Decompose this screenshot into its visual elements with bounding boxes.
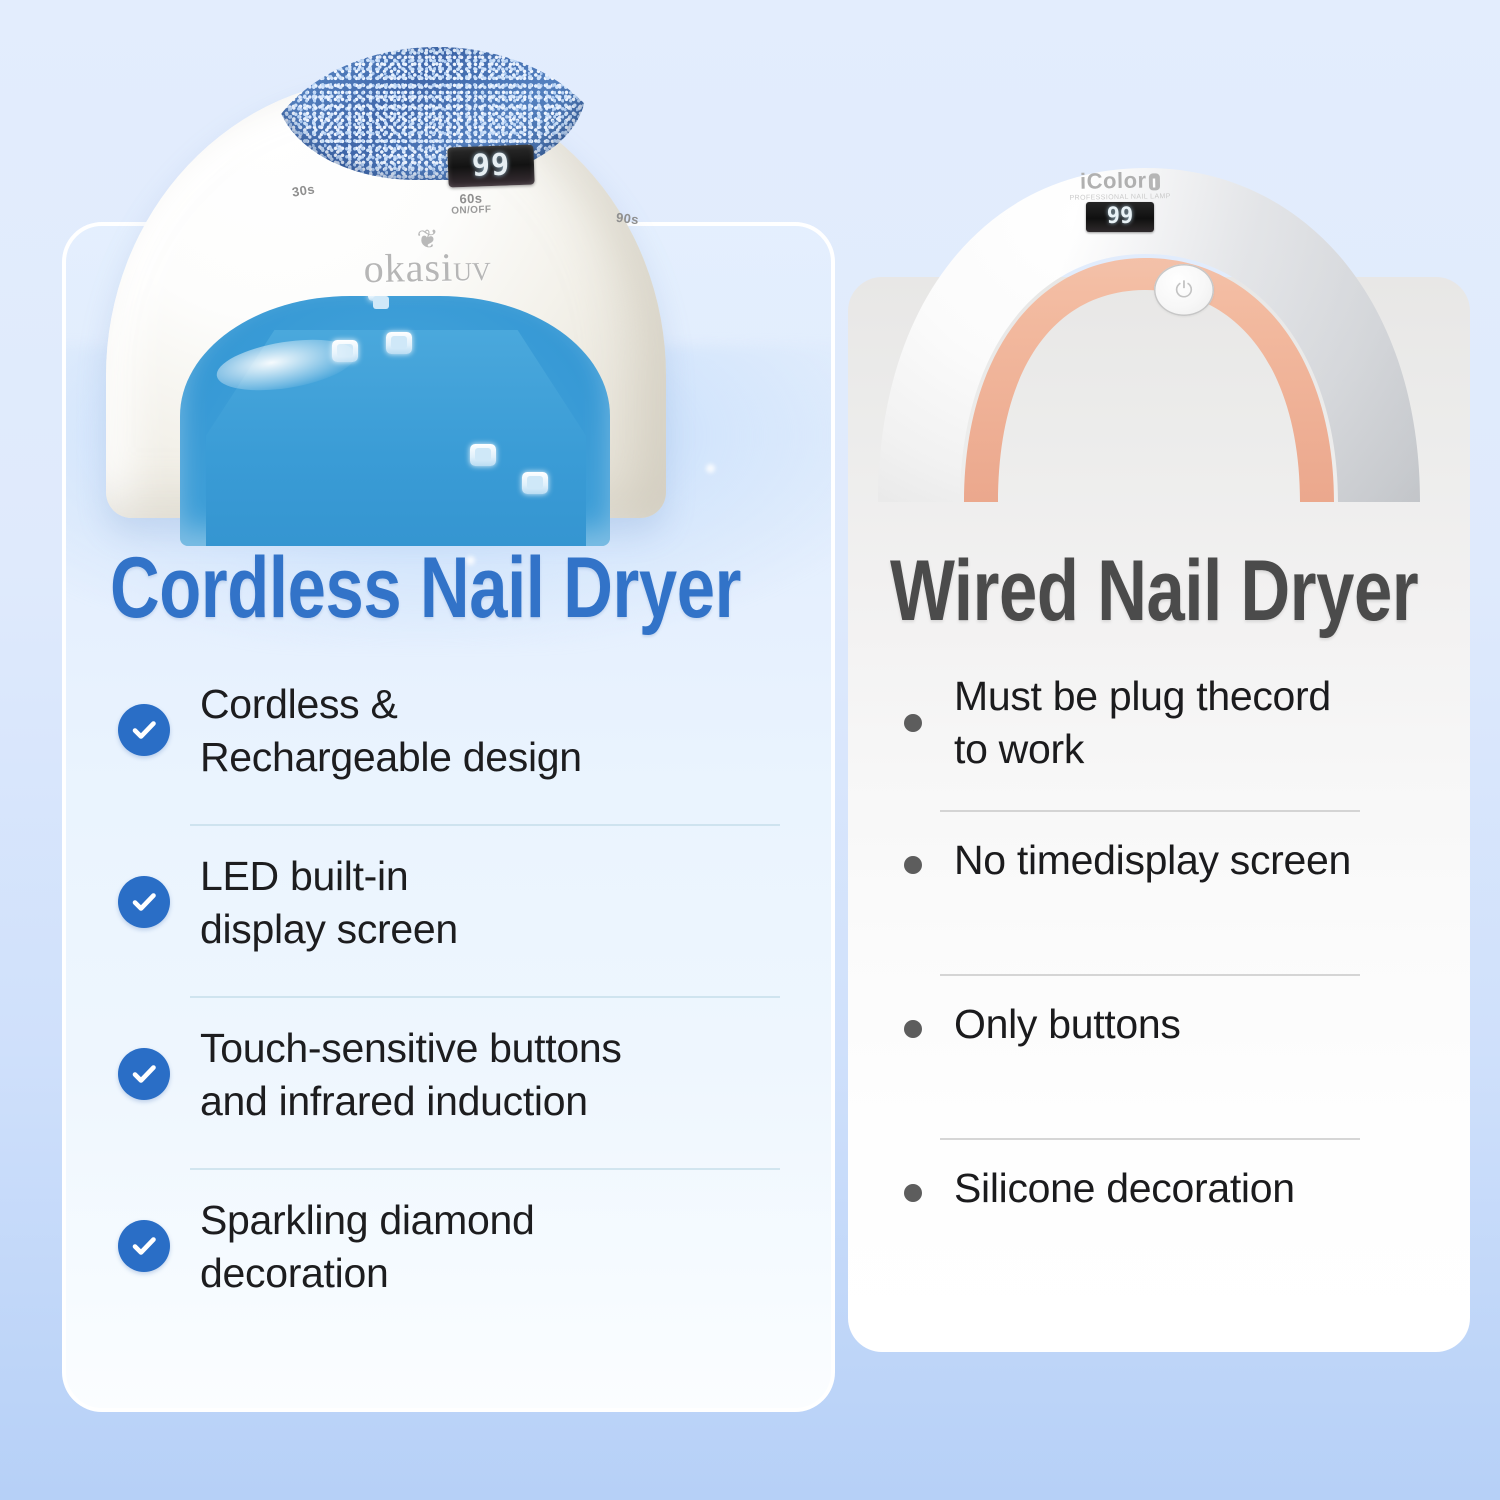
time-display: 99 xyxy=(447,145,534,188)
cordless-lamp-image: 99 30s 60s ON/OFF 90s ❦ okasiUV xyxy=(96,34,696,534)
list-item: Must be plug thecord to work xyxy=(890,670,1420,788)
touch-button-90s[interactable]: 90s xyxy=(615,211,639,227)
wired-heading: Wired Nail Dryer xyxy=(890,548,1418,634)
list-item-label: Touch-sensitive buttons and infrared ind… xyxy=(200,1022,622,1129)
touch-button-60s[interactable]: 60s ON/OFF xyxy=(451,191,492,217)
power-button[interactable]: ⏻ xyxy=(1154,264,1214,316)
list-item-label: LED built-in display screen xyxy=(200,850,458,957)
list-item-label: Only buttons xyxy=(954,998,1181,1051)
led-bead-icon xyxy=(368,296,384,301)
power-icon: ⏻ xyxy=(1175,279,1192,301)
dot-bullet-icon xyxy=(904,1184,922,1202)
wired-feature-list: Must be plug thecord to work No timedisp… xyxy=(890,670,1420,1280)
time-display: 99 xyxy=(1086,202,1154,232)
led-bead-icon xyxy=(386,332,412,354)
list-item-label: No timedisplay screen xyxy=(954,834,1351,887)
lamp-cavity xyxy=(180,296,610,546)
list-item: Touch-sensitive buttons and infrared ind… xyxy=(118,1022,798,1144)
led-bead-icon xyxy=(470,444,496,466)
list-item-label: Must be plug thecord to work xyxy=(954,670,1331,777)
touch-button-onoff-label: ON/OFF xyxy=(451,205,492,217)
list-divider xyxy=(940,974,1360,976)
check-circle-icon xyxy=(118,1048,170,1100)
dot-bullet-icon xyxy=(904,1020,922,1038)
list-divider xyxy=(190,824,780,826)
brand-suffix: UV xyxy=(453,257,491,287)
list-item: LED built-in display screen xyxy=(118,850,798,972)
list-divider xyxy=(940,810,1360,812)
list-divider xyxy=(190,996,780,998)
led-bead-icon xyxy=(186,310,200,320)
cordless-heading: Cordless Nail Dryer xyxy=(110,545,741,631)
display-value: 99 xyxy=(1107,206,1134,228)
okasiuv-brand-logo: ❦ okasiUV xyxy=(302,228,553,291)
brand-name: iColorı xyxy=(1050,169,1190,193)
list-item: No timedisplay screen xyxy=(890,834,1420,952)
dot-bullet-icon xyxy=(904,856,922,874)
brand-name: okasiUV xyxy=(302,246,553,290)
dot-bullet-icon xyxy=(904,714,922,732)
check-circle-icon xyxy=(118,1220,170,1272)
wired-lamp-image: iColorı PROFESSIONAL NAIL LAMP 99 ⏻ xyxy=(854,130,1454,540)
list-item: Only buttons xyxy=(890,998,1420,1116)
brand-badge: ı xyxy=(1148,173,1160,190)
display-value: 99 xyxy=(471,150,510,181)
brand-word: okasi xyxy=(363,245,453,292)
icolor-brand-logo: iColorı PROFESSIONAL NAIL LAMP xyxy=(1050,169,1191,202)
list-item: Cordless & Rechargeable design xyxy=(118,678,798,800)
list-item-label: Silicone decoration xyxy=(954,1162,1295,1215)
cordless-feature-list: Cordless & Rechargeable design LED built… xyxy=(118,678,798,1316)
check-circle-icon xyxy=(118,876,170,928)
led-bead-icon xyxy=(522,472,548,494)
list-item: Sparkling diamond decoration xyxy=(118,1194,798,1316)
list-item-label: Sparkling diamond decoration xyxy=(200,1194,535,1301)
list-item-label: Cordless & Rechargeable design xyxy=(200,678,582,785)
touch-button-90s-label: 90s xyxy=(615,210,640,228)
check-circle-icon xyxy=(118,704,170,756)
brand-word: iColor xyxy=(1080,168,1147,194)
comparison-infographic: 99 30s 60s ON/OFF 90s ❦ okasiUV iColorı … xyxy=(0,0,1500,1500)
list-divider xyxy=(940,1138,1360,1140)
list-item: Silicone decoration xyxy=(890,1162,1420,1280)
list-divider xyxy=(190,1168,780,1170)
